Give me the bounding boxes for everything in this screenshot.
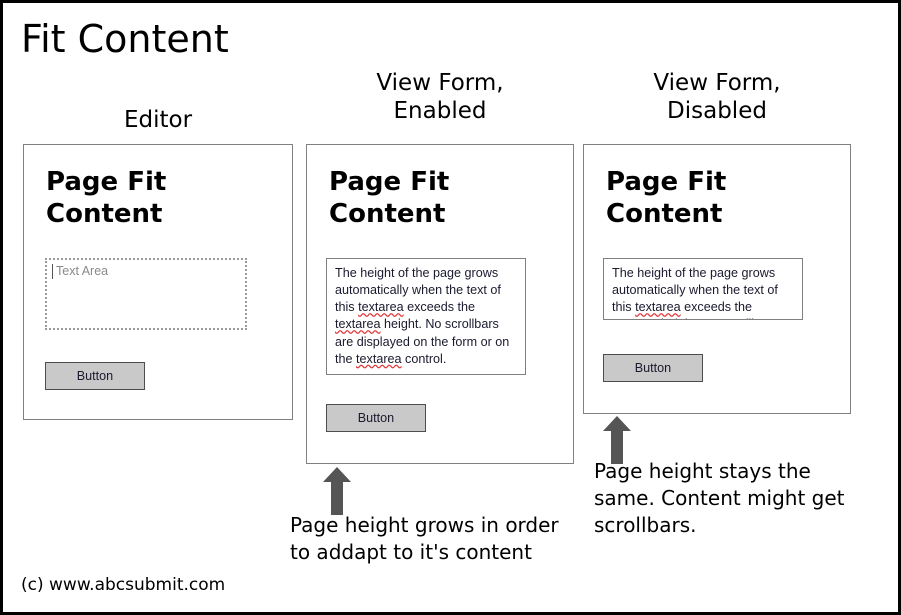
column-caption-view-form-enabled: View Form, Enabled [306,69,574,125]
panel-editor-heading: Page Fit Content [46,167,226,230]
column-caption-editor: Editor [23,106,293,134]
spellcheck-word: textarea [358,300,404,314]
editor-textarea-placeholder[interactable]: Text Area [45,258,247,330]
panel-view-form-disabled: Page Fit Content The height of the page … [583,144,851,414]
panel-enabled-heading: Page Fit Content [329,167,509,230]
text-caret [52,264,53,279]
disabled-button[interactable]: Button [603,354,703,382]
panel-disabled-heading: Page Fit Content [606,167,786,230]
editor-textarea-inner: Text Area [52,264,240,280]
editor-textarea-placeholder-text: Text Area [56,264,108,278]
panel-view-form-enabled: Page Fit Content The height of the page … [306,144,574,464]
column-caption-view-form-disabled: View Form, Disabled [583,69,851,125]
editor-button[interactable]: Button [45,362,145,390]
enabled-textarea[interactable]: The height of the page grows automatical… [326,258,526,375]
note-enabled: Page height grows in order to addapt to … [290,512,565,566]
disabled-textarea[interactable]: The height of the page grows automatical… [603,258,803,320]
note-disabled: Page height stays the same. Content migh… [594,458,849,539]
spellcheck-word: textarea [612,317,658,320]
callout-arrow-up-icon [323,467,351,515]
page-title: Fit Content [21,17,229,61]
footer-credit: (c) www.abcsubmit.com [21,575,225,595]
spellcheck-word: textarea [635,300,681,314]
diagram-canvas: Fit Content Editor View Form, Enabled Vi… [0,0,901,615]
enabled-button[interactable]: Button [326,404,426,432]
spellcheck-word: textarea [335,317,381,331]
callout-arrow-up-icon [603,416,631,464]
spellcheck-word: textarea [356,352,402,366]
panel-editor: Page Fit Content Text Area Button [23,144,293,420]
